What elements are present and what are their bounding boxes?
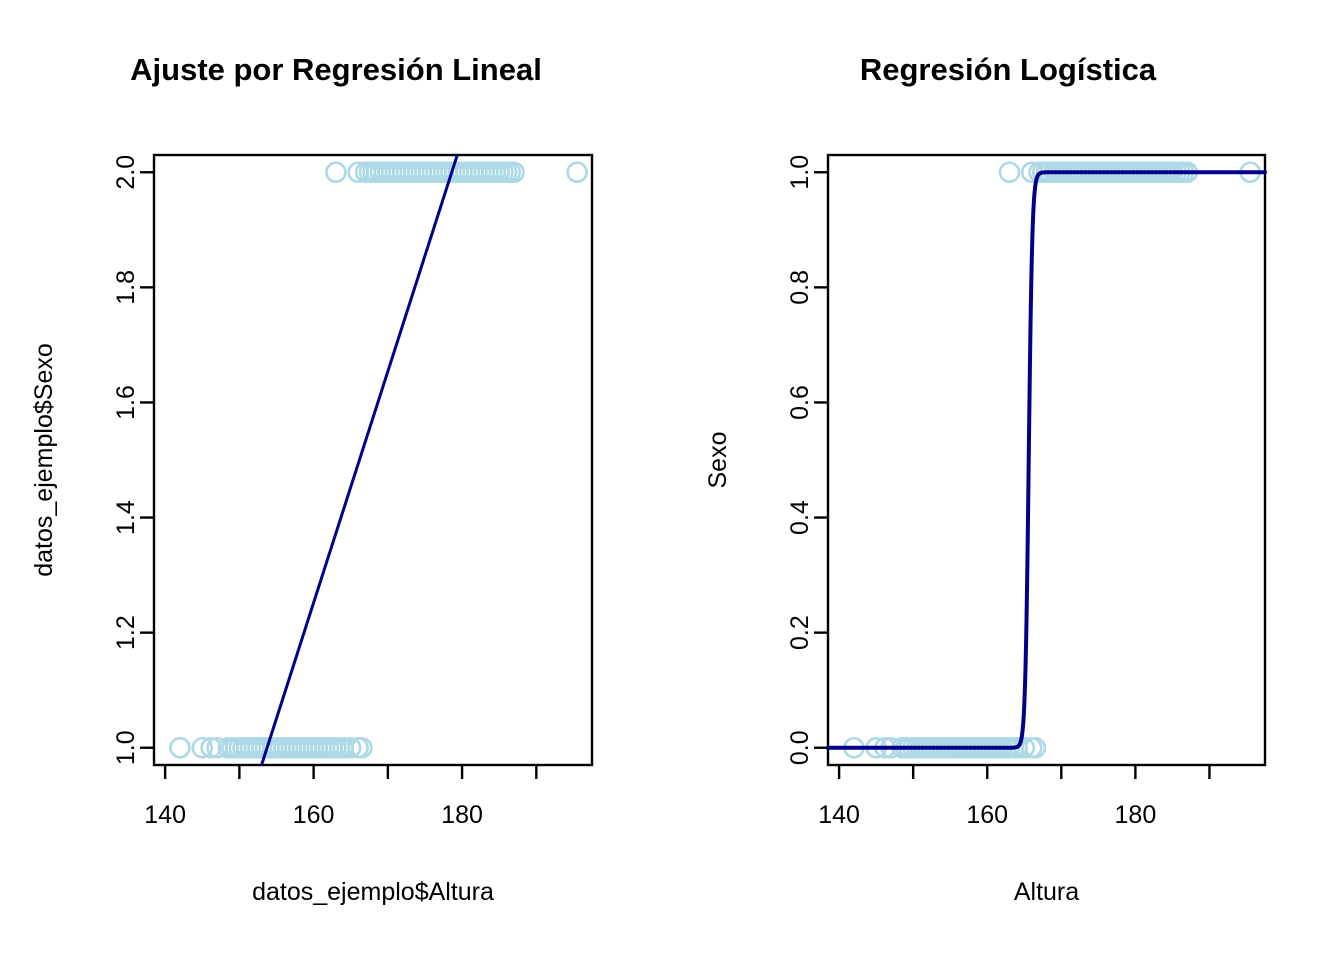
y-axis-label: datos_ejemplo$Sexo [30,343,58,577]
y-axis-tick-label: 0.6 [786,385,814,420]
x-axis-tick-label: 140 [818,801,860,829]
y-axis-tick-label: 0.8 [786,270,814,305]
x-axis-tick-label: 140 [144,801,186,829]
y-axis-tick-label: 1.0 [786,155,814,190]
x-axis-tick-label: 160 [293,801,335,829]
data-point [568,163,587,182]
x-axis-tick-label: 180 [1115,801,1157,829]
x-axis-tick-label: 180 [441,801,483,829]
data-point [170,738,189,757]
plot-box [154,155,592,765]
y-axis-tick-label: 1.6 [112,385,140,420]
y-axis-tick-label: 1.4 [112,500,140,535]
x-axis-tick-label: 160 [966,801,1008,829]
linear-regression-plot: 1401601801.01.21.41.61.82.0datos_ejemplo… [0,0,672,960]
plot-box [828,155,1265,765]
data-point [326,163,345,182]
y-axis-group: 1.01.21.41.61.82.0 [112,155,154,765]
y-axis-tick-label: 0.0 [786,730,814,765]
panel-logistic-regression: Regresión Logística 1401601800.00.20.40.… [672,0,1344,960]
y-axis-tick-label: 1.2 [112,615,140,650]
y-axis-tick-label: 2.0 [112,155,140,190]
logistic-regression-plot: 1401601800.00.20.40.60.81.0AlturaSexo [672,0,1344,960]
logistic-fit-curve [828,172,1265,747]
x-axis-group: 140160180 [818,765,1209,829]
y-axis-tick-label: 0.4 [786,500,814,535]
y-axis-label: Sexo [704,432,732,489]
x-axis-label: datos_ejemplo$Altura [252,878,494,906]
figure-canvas: Ajuste por Regresión Lineal 1401601801.0… [0,0,1344,960]
linear-fit-line [154,0,592,960]
data-points-group [170,163,586,757]
data-points-group [844,163,1259,757]
x-axis-label: Altura [1014,878,1079,906]
y-axis-group: 0.00.20.40.60.81.0 [786,155,828,765]
y-axis-tick-label: 0.2 [786,615,814,650]
y-axis-tick-label: 1.8 [112,270,140,305]
x-axis-group: 140160180 [144,765,536,829]
y-axis-tick-label: 1.0 [112,730,140,765]
panel-linear-regression: Ajuste por Regresión Lineal 1401601801.0… [0,0,672,960]
data-point [1000,163,1019,182]
